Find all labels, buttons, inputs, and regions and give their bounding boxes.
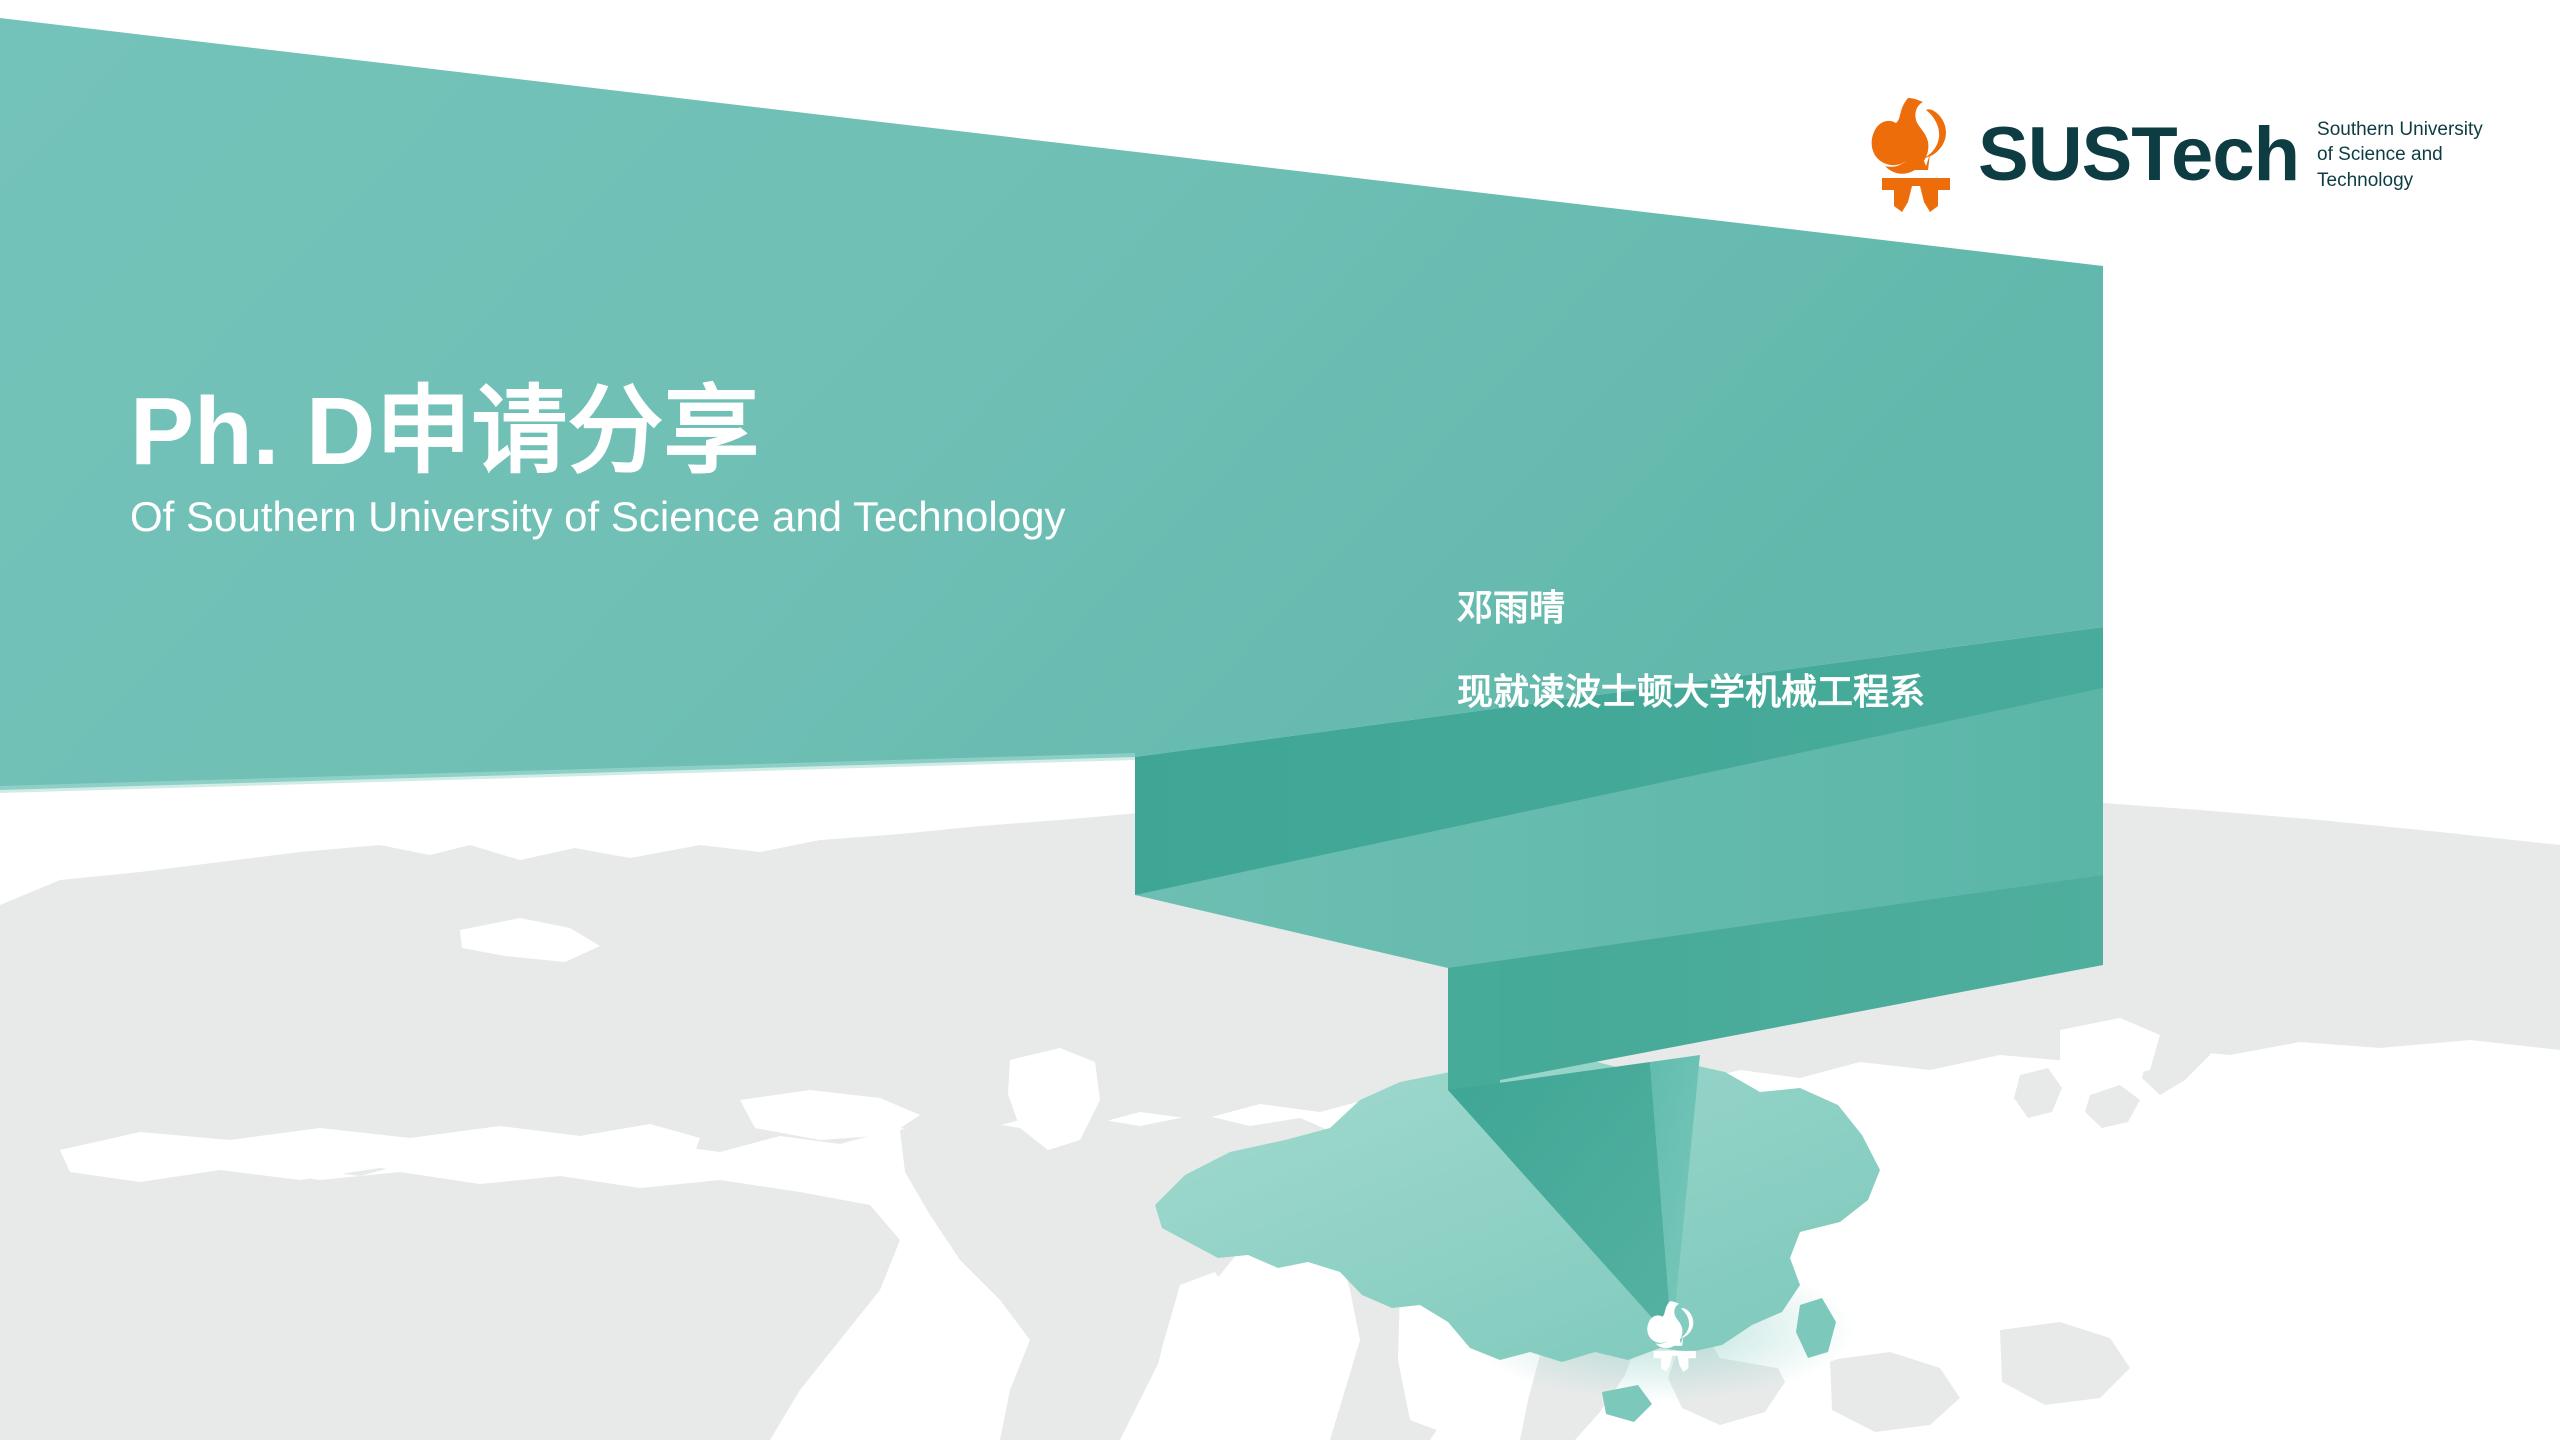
presentation-slide: Ph. D申请分享 Of Southern University of Scie… xyxy=(0,0,2560,1440)
sustech-torch-marker-icon xyxy=(1647,1301,1696,1372)
map-marker-layer xyxy=(0,0,2560,1440)
